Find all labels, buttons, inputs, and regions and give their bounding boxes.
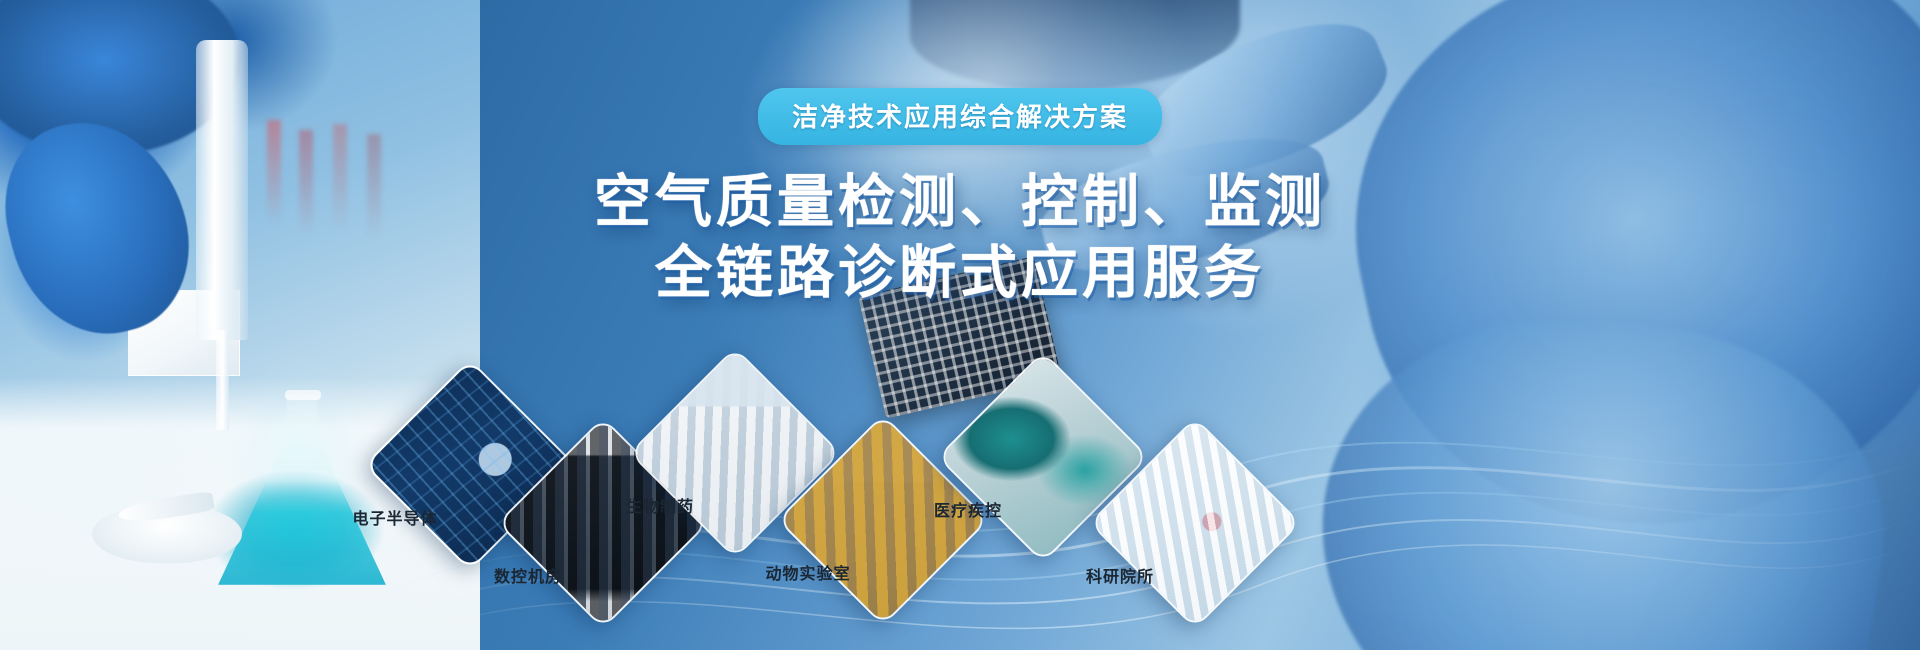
industry-card-label: 数控机房 [494,563,562,587]
page-title: 空气质量检测、控制、监测 全链路诊断式应用服务 [460,167,1460,308]
industry-card-label: 生物制药 [626,493,694,517]
industry-card-label: 医疗疾控 [934,497,1002,521]
erlenmeyer-flask-icon [218,395,386,585]
hero-banner: 洁净技术应用综合解决方案 空气质量检测、控制、监测 全链路诊断式应用服务 电子半… [0,0,1920,650]
test-tube-rack-icon [255,120,465,300]
hero-copy: 洁净技术应用综合解决方案 空气质量检测、控制、监测 全链路诊断式应用服务 [460,88,1460,308]
headline-line-2: 全链路诊断式应用服务 [460,238,1460,309]
industry-card-label: 电子半导体 [352,505,437,529]
lab-photo-left [0,0,480,650]
tagline-badge: 洁净技术应用综合解决方案 [758,88,1162,145]
pipette-body-icon [196,40,248,340]
flask-rim [285,390,321,400]
pipette-tip-icon [216,330,229,430]
industry-card-label: 科研院所 [1086,563,1154,587]
headline-line-1: 空气质量检测、控制、监测 [460,167,1460,238]
industry-card-label: 动物实验室 [765,560,850,584]
